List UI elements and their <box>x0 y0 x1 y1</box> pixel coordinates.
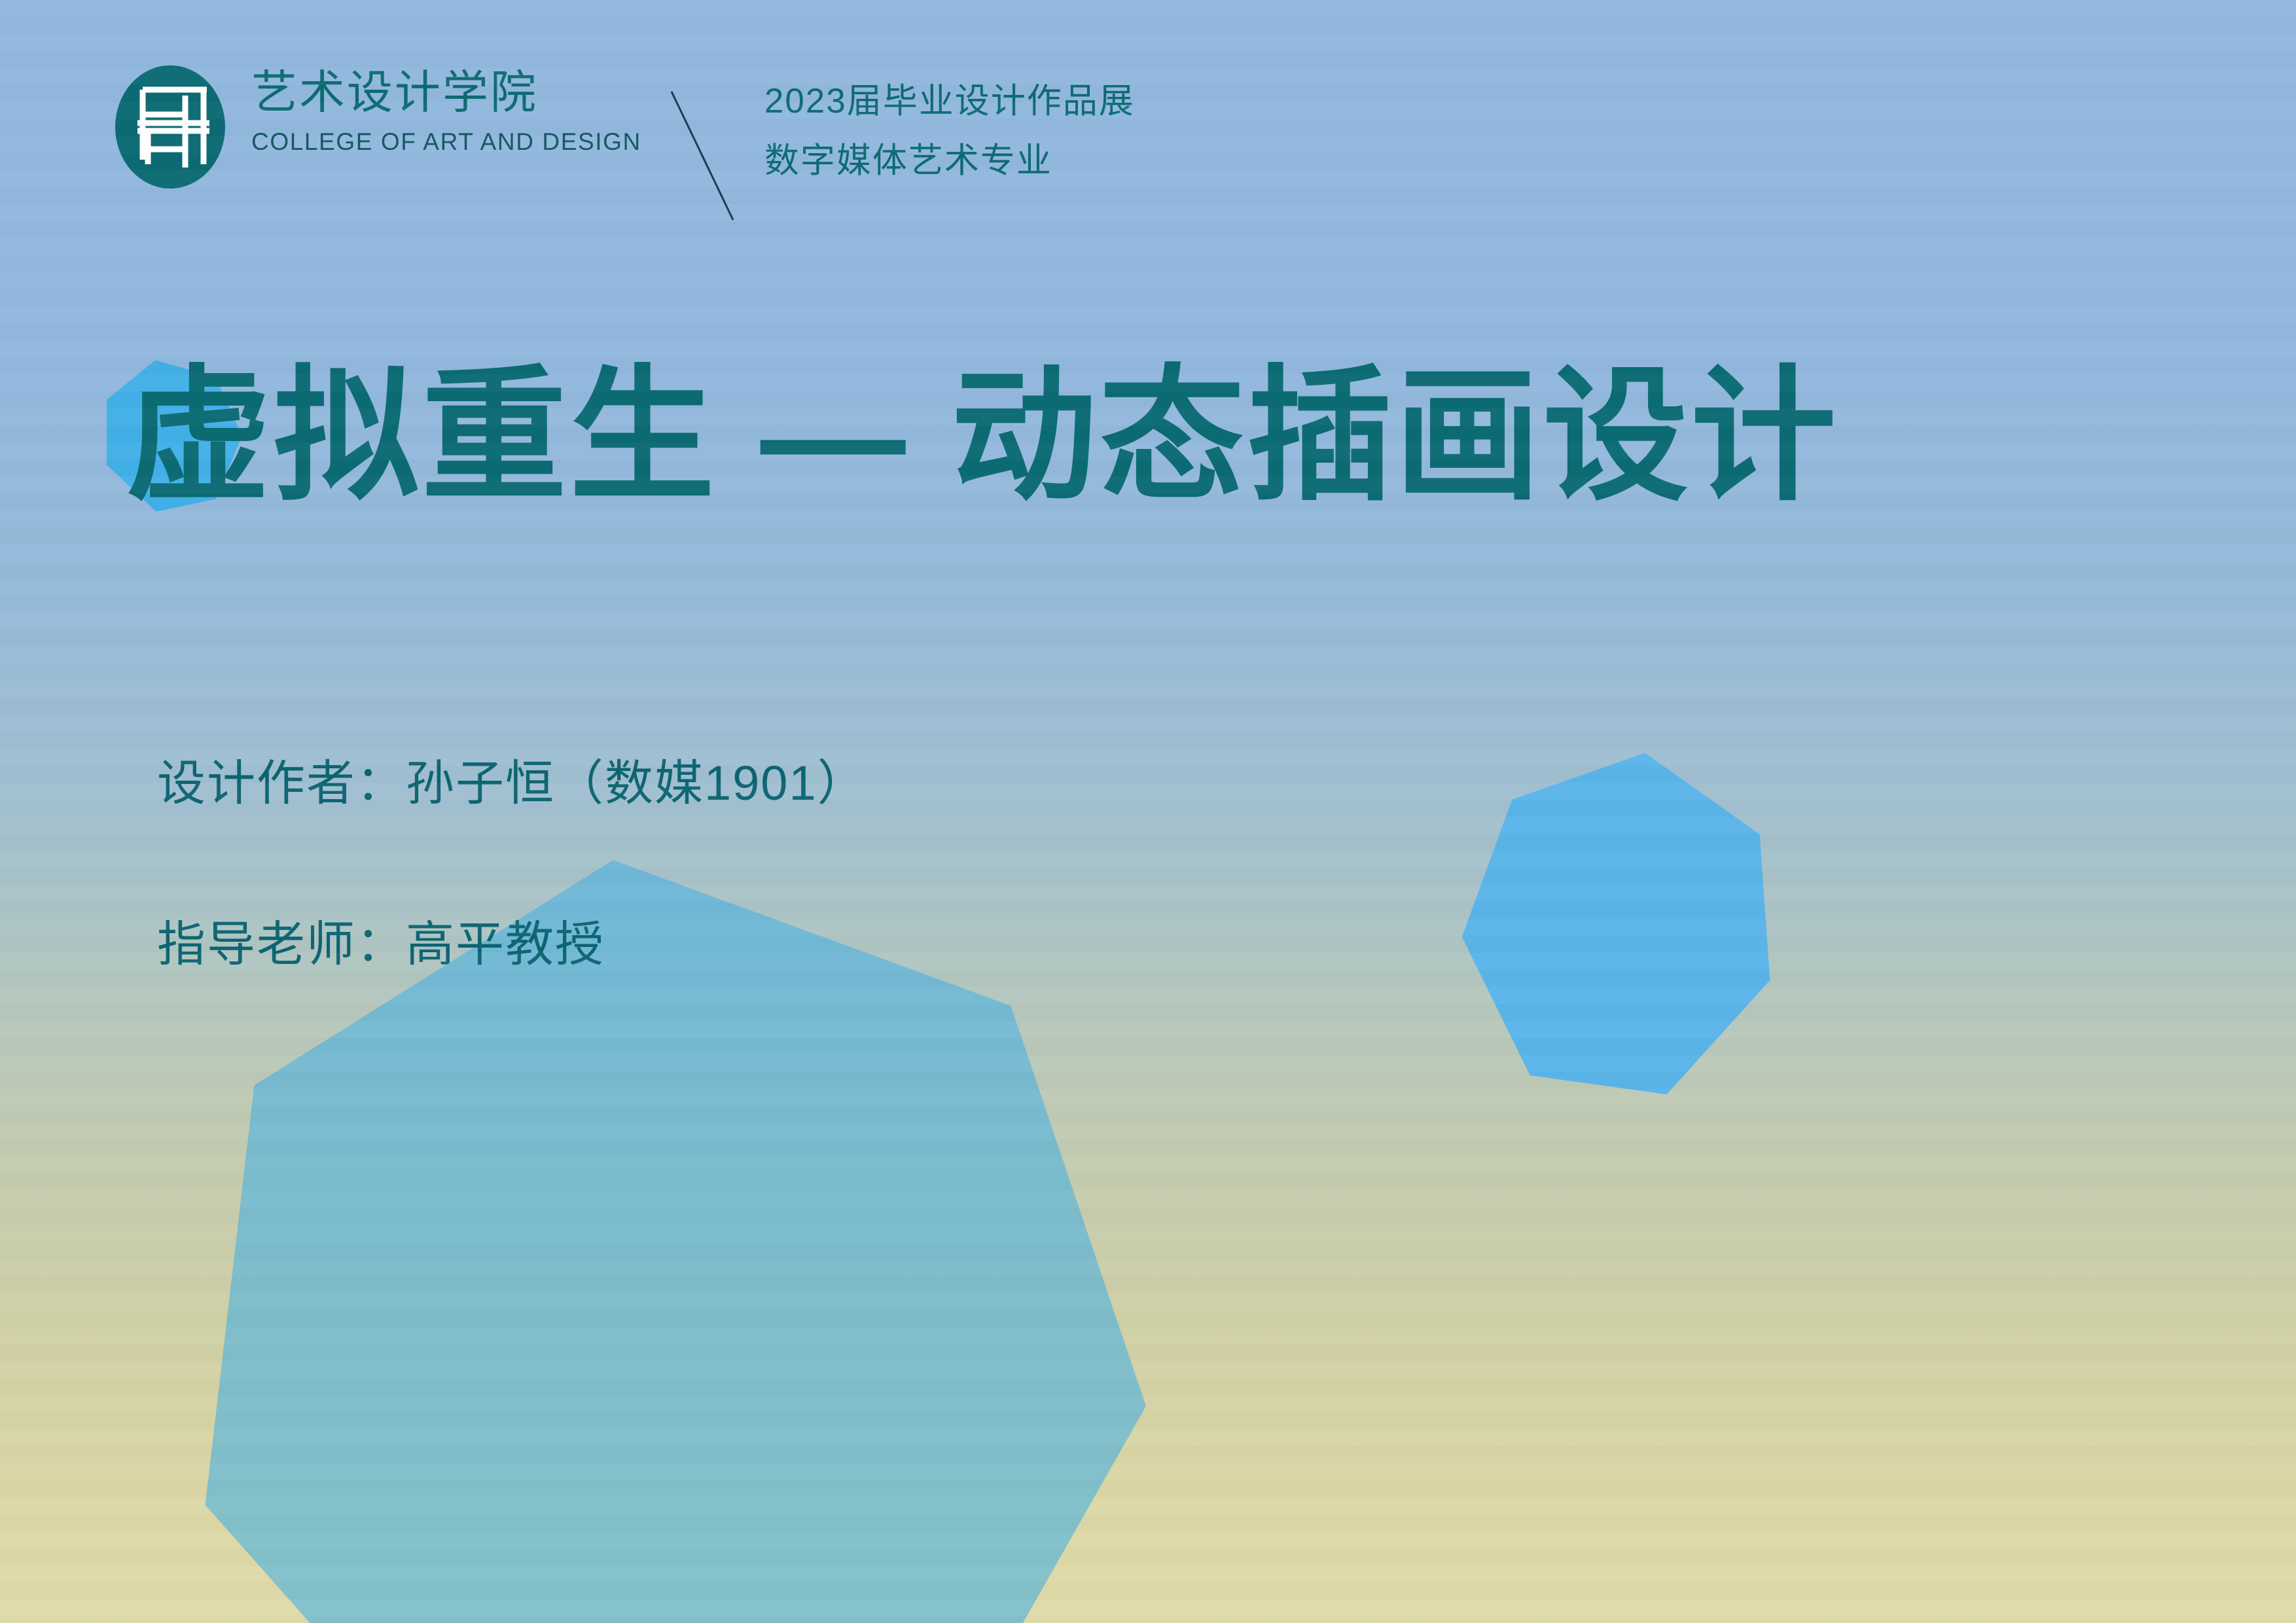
event-info: 2023届毕业设计作品展 数字媒体艺术专业 <box>764 60 1135 178</box>
college-seal-icon <box>111 63 229 191</box>
page-title: 虚拟重生 — 动态插画设计 <box>126 364 1839 509</box>
college-identity: 艺术设计学院 COLLEGE OF ART AND DESIGN <box>251 60 641 154</box>
college-name-cn: 艺术设计学院 <box>251 69 641 115</box>
credit-author: 设计作者：孙子恒（数媒1901） <box>157 759 867 808</box>
title-slide: 艺术设计学院 COLLEGE OF ART AND DESIGN 2023届毕业… <box>0 0 2296 1623</box>
event-exhibition-label: 2023届毕业设计作品展 <box>764 84 1135 118</box>
event-major-label: 数字媒体艺术专业 <box>764 143 1135 178</box>
slide-header: 艺术设计学院 COLLEGE OF ART AND DESIGN 2023届毕业… <box>111 60 1135 230</box>
diagonal-slash-divider-icon <box>653 80 758 230</box>
college-name-en: COLLEGE OF ART AND DESIGN <box>251 130 641 154</box>
heptagon-medium-decoration <box>1439 730 1804 1112</box>
credits-block: 设计作者：孙子恒（数媒1901） 指导老师：高平教授 <box>157 759 867 969</box>
credit-advisor: 指导老师：高平教授 <box>157 920 867 969</box>
